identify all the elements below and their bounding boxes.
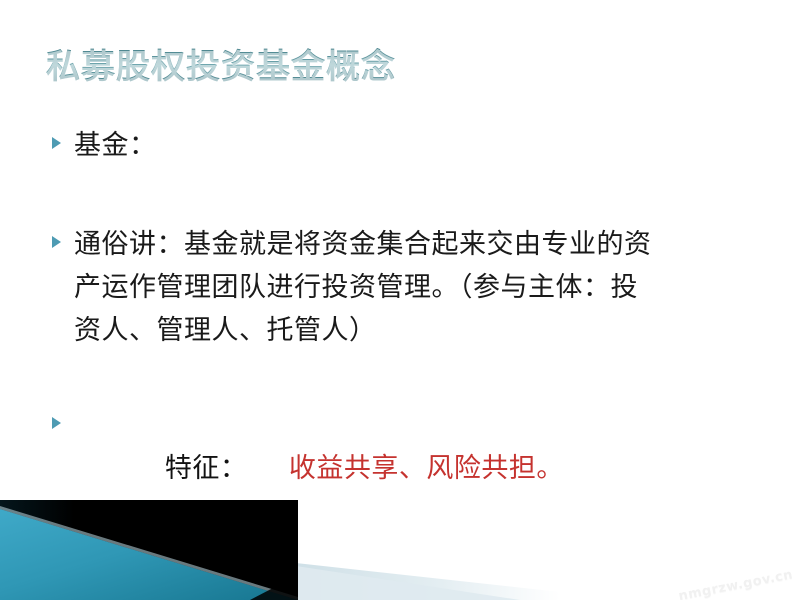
- list-item-text: 特征： 收益共享、风险共担。: [74, 404, 764, 533]
- slide-canvas: 私募股权投资基金概念 基金： 通俗讲：基金就是将资金集合起来交由专业的资 产运作…: [0, 0, 800, 600]
- text-line: 资人、管理人、托管人）: [74, 309, 764, 352]
- list-item-label: 特征：: [165, 453, 234, 484]
- list-item-text: 优势： 规模优势、专业优势。: [74, 573, 764, 600]
- triangle-right-bullet-icon: [52, 573, 74, 598]
- triangle-right-bullet-icon: [52, 404, 74, 429]
- list-item-text: 通俗讲：基金就是将资金集合起来交由专业的资 产运作管理团队进行投资管理。（参与主…: [74, 223, 764, 352]
- list-item: 基金：: [52, 124, 764, 167]
- triangle-right-bullet-icon: [52, 223, 74, 248]
- list-item-text: 基金：: [74, 124, 764, 167]
- list-item: 通俗讲：基金就是将资金集合起来交由专业的资 产运作管理团队进行投资管理。（参与主…: [52, 223, 764, 352]
- text-line: 产运作管理团队进行投资管理。（参与主体：投: [74, 266, 764, 309]
- triangle-right-bullet-icon: [52, 124, 74, 149]
- text-line: 基金：: [74, 124, 764, 167]
- text-line: 通俗讲：基金就是将资金集合起来交由专业的资: [74, 223, 764, 266]
- list-item: 特征： 收益共享、风险共担。: [52, 404, 764, 533]
- page-title: 私募股权投资基金概念: [46, 48, 746, 87]
- list-item-accent-text: 收益共享、风险共担。: [234, 453, 564, 484]
- bullet-list: 基金： 通俗讲：基金就是将资金集合起来交由专业的资 产运作管理团队进行投资管理。…: [52, 124, 764, 600]
- list-item: 优势： 规模优势、专业优势。: [52, 573, 764, 600]
